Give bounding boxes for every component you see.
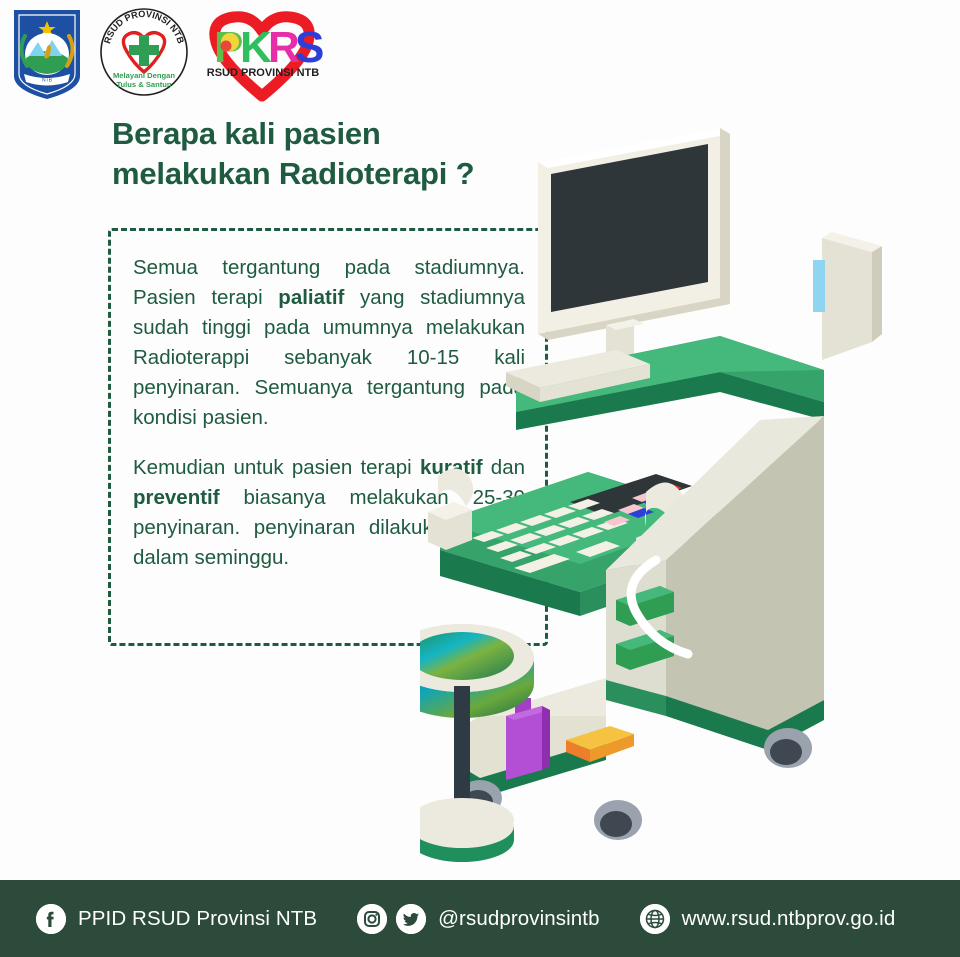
globe-icon [640, 904, 670, 934]
paragraph-1-bold-paliatif: paliatif [278, 286, 344, 309]
ultrasound-machine-illustration [420, 120, 960, 880]
facebook-label: PPID RSUD Provinsi NTB [78, 907, 317, 931]
poster-canvas: NTB RSUD PROVINSI NTB Melayani Dengan Tu… [0, 0, 960, 957]
paragraph-2-bold-preventif: preventif [133, 486, 220, 509]
footer-website[interactable]: www.rsud.ntbprov.go.id [640, 904, 896, 934]
pkrs-logo: P K R S RSUD PROVINSI NTB [200, 6, 326, 104]
instagram-icon [357, 904, 387, 934]
svg-text:Tulus & Santun: Tulus & Santun [116, 80, 171, 89]
monitor [538, 128, 882, 370]
svg-text:S: S [295, 23, 324, 72]
website-label: www.rsud.ntbprov.go.id [682, 907, 896, 931]
twitter-icon [396, 904, 426, 934]
social-handle-label: @rsudprovinsintb [438, 907, 599, 931]
footer-social[interactable]: @rsudprovinsintb [357, 904, 599, 934]
console-deck [506, 336, 824, 430]
page-title-line-1: Berapa kali pasien [112, 116, 381, 151]
footer-bar: PPID RSUD Provinsi NTB [0, 880, 960, 957]
facebook-icon [36, 904, 66, 934]
svg-text:Melayani Dengan: Melayani Dengan [113, 71, 175, 80]
paragraph-2-part-1: Kemudian untuk pasien terapi [133, 456, 420, 479]
machine-body [606, 416, 824, 750]
logo-row: NTB RSUD PROVINSI NTB Melayani Dengan Tu… [8, 6, 328, 106]
rsud-provinsi-ntb-logo: RSUD PROVINSI NTB Melayani Dengan Tulus … [96, 6, 192, 98]
ntb-province-emblem: NTB [10, 6, 84, 102]
footer-facebook[interactable]: PPID RSUD Provinsi NTB [36, 904, 317, 934]
svg-text:NTB: NTB [42, 78, 53, 84]
svg-text:RSUD PROVINSI NTB: RSUD PROVINSI NTB [207, 67, 320, 79]
